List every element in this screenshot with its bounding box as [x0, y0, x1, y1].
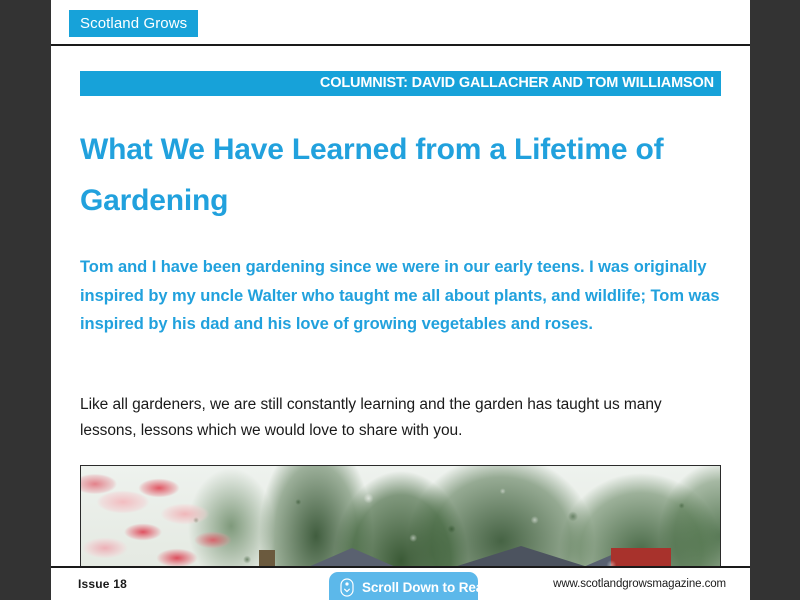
standfirst-paragraph: Tom and I have been gardening since we w… — [80, 253, 721, 339]
article-photo-frame — [80, 465, 721, 566]
article-photo — [81, 466, 720, 566]
body-paragraph: Like all gardeners, we are still constan… — [80, 392, 710, 444]
top-bar: Scotland Grows — [51, 0, 750, 45]
scroll-down-label: Scroll Down to Read — [362, 580, 491, 595]
issue-number: Issue 18 — [78, 577, 127, 591]
brand-tab-scotland-grows[interactable]: Scotland Grows — [69, 10, 198, 37]
page-footer: Issue 18 Scroll Down to Read www.scotlan… — [51, 566, 750, 600]
left-gutter — [0, 0, 51, 600]
scroll-mouse-icon — [340, 578, 354, 597]
website-url[interactable]: www.scotlandgrowsmagazine.com — [553, 578, 726, 590]
magazine-page: Scotland Grows COLUMNIST: DAVID GALLACHE… — [51, 0, 750, 600]
screenshot-viewport: Scotland Grows COLUMNIST: DAVID GALLACHE… — [0, 0, 800, 600]
article-content: COLUMNIST: DAVID GALLACHER AND TOM WILLI… — [51, 46, 750, 566]
columnist-label: COLUMNIST: DAVID GALLACHER AND TOM WILLI… — [320, 71, 714, 96]
right-gutter — [750, 0, 800, 600]
columnist-banner: COLUMNIST: DAVID GALLACHER AND TOM WILLI… — [80, 71, 721, 96]
page-title: What We Have Learned from a Lifetime of … — [80, 124, 725, 226]
photo-raindrops-layer — [81, 466, 720, 566]
scroll-down-button[interactable]: Scroll Down to Read — [329, 572, 478, 600]
